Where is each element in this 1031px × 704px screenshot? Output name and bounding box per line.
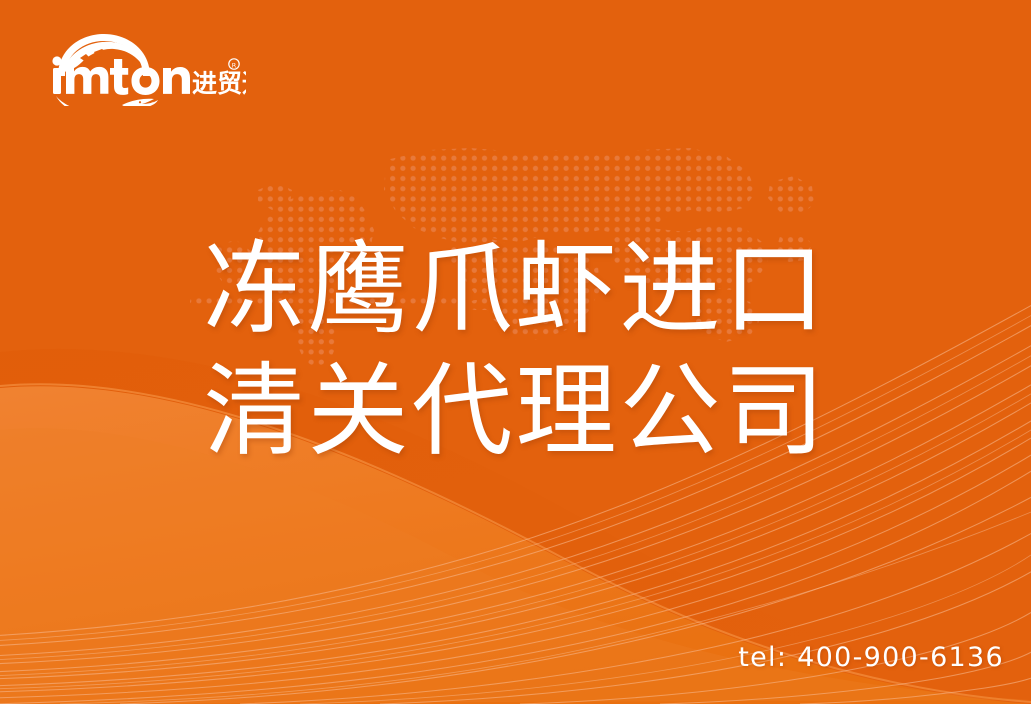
headline-line-2: 清关代理公司 bbox=[0, 350, 1031, 472]
trademark-icon: R bbox=[229, 59, 239, 70]
headline-line-1: 冻鹰爪虾进口 bbox=[0, 228, 1031, 350]
logo-wordmark-chinese: 进贸通 bbox=[192, 69, 246, 98]
svg-text:进贸通: 进贸通 bbox=[192, 69, 246, 98]
poster-canvas: 进贸通 R 冻鹰爪虾进口 清关代理公司 tel: 400-900-6136 bbox=[0, 0, 1031, 704]
svg-text:R: R bbox=[232, 62, 237, 70]
page-title: 冻鹰爪虾进口 清关代理公司 bbox=[0, 228, 1031, 472]
swoosh-arrow-icon bbox=[56, 96, 158, 106]
brand-logo[interactable]: 进贸通 R bbox=[36, 28, 246, 106]
contact-phone[interactable]: tel: 400-900-6136 bbox=[738, 644, 1004, 671]
